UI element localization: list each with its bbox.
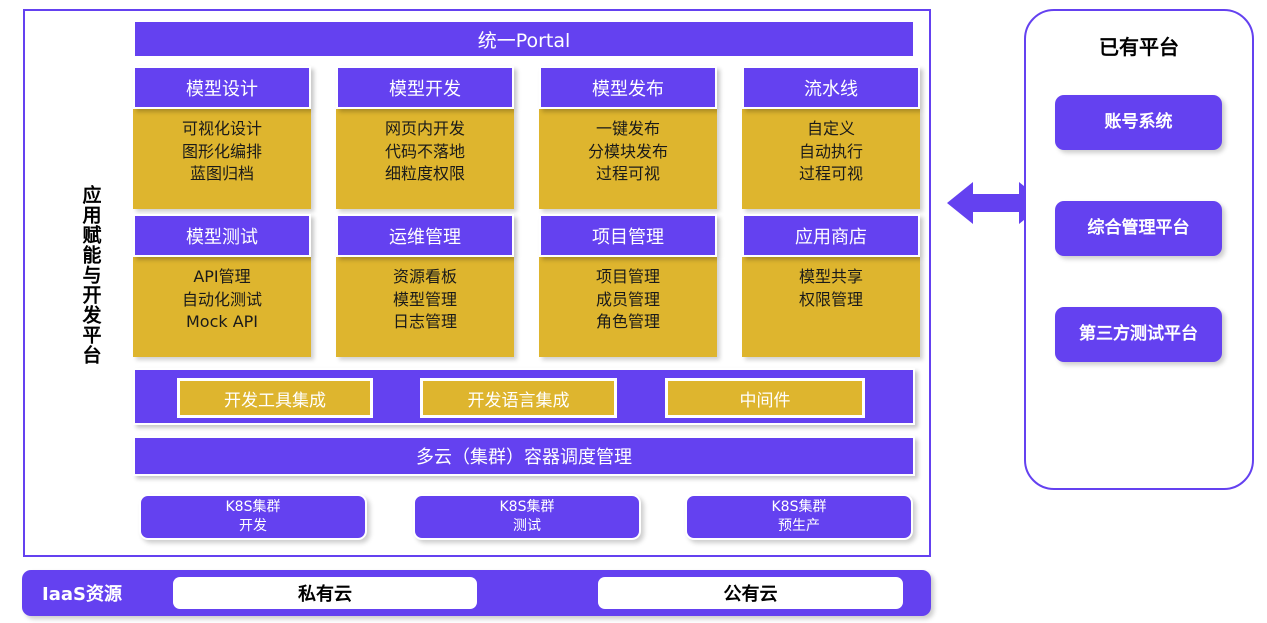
diagram-root: 应用赋能与开发平台 统一Portal 模型设计 可视化设计 图形化编排 蓝图归档… — [0, 0, 1267, 623]
card-item: API管理 — [137, 266, 307, 289]
capability-card[interactable]: 模型设计 可视化设计 图形化编排 蓝图归档 — [133, 66, 311, 209]
existing-platform-title: 已有平台 — [1026, 31, 1252, 60]
card-body: 一键发布 分模块发布 过程可视 — [539, 109, 717, 209]
capability-card[interactable]: 应用商店 模型共享 权限管理 — [742, 214, 920, 357]
card-body: 资源看板 模型管理 日志管理 — [336, 257, 514, 357]
card-item: 分模块发布 — [543, 141, 713, 164]
card-item: 一键发布 — [543, 118, 713, 141]
card-item: 项目管理 — [543, 266, 713, 289]
card-item: Mock API — [137, 311, 307, 334]
existing-platform-item[interactable]: 第三方测试平台 — [1055, 307, 1222, 362]
integration-chip[interactable]: 开发语言集成 — [420, 378, 617, 418]
card-item: 模型共享 — [746, 266, 916, 289]
existing-platform-item[interactable]: 账号系统 — [1055, 95, 1222, 150]
k8s-cluster-chip[interactable]: K8S集群 开发 — [139, 494, 367, 540]
card-item: 自定义 — [746, 118, 916, 141]
capability-card[interactable]: 项目管理 项目管理 成员管理 角色管理 — [539, 214, 717, 357]
card-title[interactable]: 模型开发 — [336, 66, 514, 109]
card-item: 图形化编排 — [137, 141, 307, 164]
card-item: 角色管理 — [543, 311, 713, 334]
card-body: 模型共享 权限管理 — [742, 257, 920, 357]
card-item: 细粒度权限 — [340, 163, 510, 186]
card-item: 网页内开发 — [340, 118, 510, 141]
k8s-chip-line2: 测试 — [513, 517, 541, 536]
card-item: 模型管理 — [340, 289, 510, 312]
card-item: 自动执行 — [746, 141, 916, 164]
k8s-cluster-chip[interactable]: K8S集群 预生产 — [685, 494, 913, 540]
iaas-resource-bar: IaaS资源 私有云 公有云 — [22, 570, 931, 616]
multicloud-scheduling-bar[interactable]: 多云（集群）容器调度管理 — [133, 436, 915, 476]
card-body: 自定义 自动执行 过程可视 — [742, 109, 920, 209]
k8s-cluster-chip[interactable]: K8S集群 测试 — [413, 494, 641, 540]
card-item: 过程可视 — [543, 163, 713, 186]
card-title[interactable]: 模型设计 — [133, 66, 311, 109]
card-item: 自动化测试 — [137, 289, 307, 312]
card-title[interactable]: 模型测试 — [133, 214, 311, 257]
card-item: 代码不落地 — [340, 141, 510, 164]
unified-portal-bar[interactable]: 统一Portal — [133, 20, 915, 58]
existing-platform-item[interactable]: 综合管理平台 — [1055, 201, 1222, 256]
k8s-chip-line1: K8S集群 — [772, 498, 827, 517]
card-item: 资源看板 — [340, 266, 510, 289]
capability-card[interactable]: 运维管理 资源看板 模型管理 日志管理 — [336, 214, 514, 357]
card-title[interactable]: 运维管理 — [336, 214, 514, 257]
integration-bar: 开发工具集成 开发语言集成 中间件 — [133, 368, 915, 425]
iaas-public-cloud[interactable]: 公有云 — [598, 577, 903, 609]
iaas-private-cloud[interactable]: 私有云 — [173, 577, 477, 609]
card-item: 权限管理 — [746, 289, 916, 312]
card-item: 可视化设计 — [137, 118, 307, 141]
card-body: 可视化设计 图形化编排 蓝图归档 — [133, 109, 311, 209]
capability-card[interactable]: 模型发布 一键发布 分模块发布 过程可视 — [539, 66, 717, 209]
integration-chip[interactable]: 开发工具集成 — [177, 378, 373, 418]
card-title[interactable]: 项目管理 — [539, 214, 717, 257]
card-item: 蓝图归档 — [137, 163, 307, 186]
k8s-chip-line1: K8S集群 — [226, 498, 281, 517]
card-title[interactable]: 流水线 — [742, 66, 920, 109]
k8s-chip-line2: 预生产 — [778, 517, 820, 536]
card-body: API管理 自动化测试 Mock API — [133, 257, 311, 357]
k8s-cluster-row: K8S集群 开发 K8S集群 测试 K8S集群 预生产 — [133, 494, 915, 542]
card-body: 项目管理 成员管理 角色管理 — [539, 257, 717, 357]
card-title[interactable]: 模型发布 — [539, 66, 717, 109]
existing-platform-panel: 已有平台 账号系统 综合管理平台 第三方测试平台 — [1024, 9, 1254, 490]
iaas-label: IaaS资源 — [42, 570, 122, 616]
capability-card[interactable]: 模型开发 网页内开发 代码不落地 细粒度权限 — [336, 66, 514, 209]
card-title[interactable]: 应用商店 — [742, 214, 920, 257]
card-body: 网页内开发 代码不落地 细粒度权限 — [336, 109, 514, 209]
capability-card-grid: 模型设计 可视化设计 图形化编排 蓝图归档 模型开发 网页内开发 代码不落地 细… — [133, 66, 915, 358]
card-item: 过程可视 — [746, 163, 916, 186]
capability-card[interactable]: 流水线 自定义 自动执行 过程可视 — [742, 66, 920, 209]
platform-vertical-label: 应用赋能与开发平台 — [70, 165, 110, 385]
k8s-chip-line2: 开发 — [239, 517, 267, 536]
integration-chip[interactable]: 中间件 — [665, 378, 865, 418]
capability-card[interactable]: 模型测试 API管理 自动化测试 Mock API — [133, 214, 311, 357]
card-item: 成员管理 — [543, 289, 713, 312]
card-item: 日志管理 — [340, 311, 510, 334]
k8s-chip-line1: K8S集群 — [500, 498, 555, 517]
